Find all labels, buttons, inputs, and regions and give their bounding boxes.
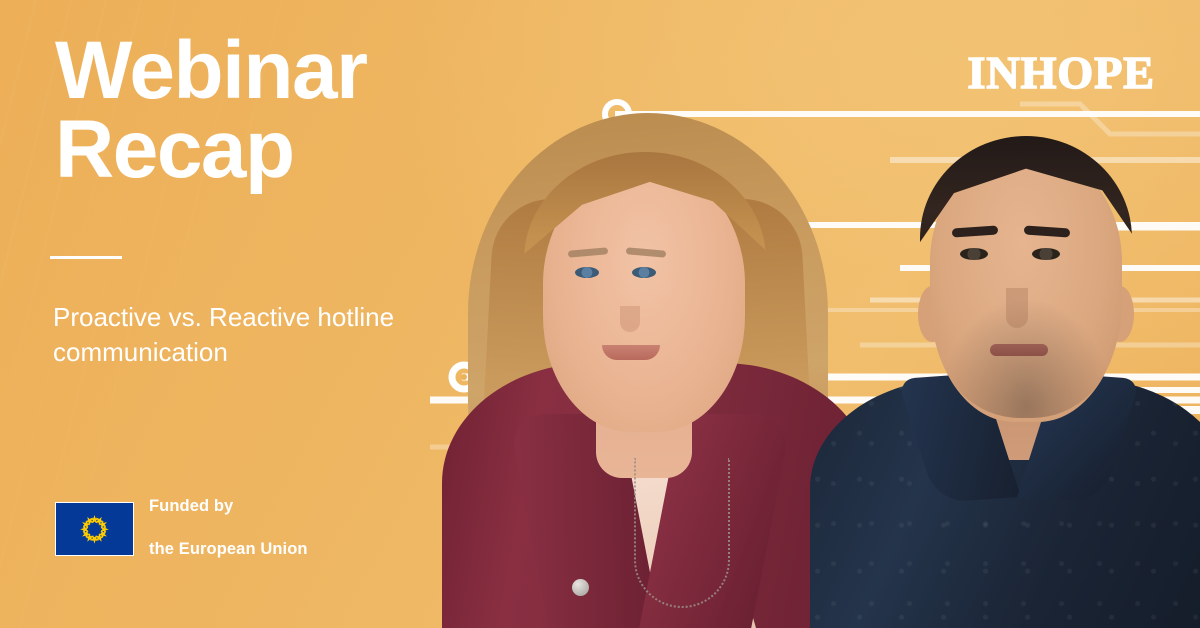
title-line-2: Recap <box>55 111 367 190</box>
eye-right <box>632 267 656 278</box>
eye-left <box>575 267 599 278</box>
mouth <box>990 344 1048 356</box>
necklace-chain <box>634 458 730 608</box>
title-divider-rule <box>50 256 122 259</box>
mouth <box>602 345 660 360</box>
eu-flag-icon <box>55 502 134 556</box>
inhope-logo: INHOPE <box>968 46 1155 99</box>
title-line-1: Webinar <box>55 25 367 116</box>
eye-right <box>1032 248 1060 260</box>
eu-funding-badge: Funded by the European Union <box>55 474 308 583</box>
page-title: Webinar Recap <box>55 32 367 189</box>
eu-funding-line-1: Funded by <box>149 496 308 518</box>
eu-funding-line-2: the European Union <box>149 539 308 561</box>
eye-left <box>960 248 988 260</box>
jacket-stud <box>572 579 589 596</box>
nose <box>620 306 640 332</box>
nose <box>1006 288 1028 328</box>
eu-funding-text: Funded by the European Union <box>149 474 308 583</box>
speaker-portrait-right <box>820 83 1200 628</box>
page-subtitle: Proactive vs. Reactive hotline communica… <box>53 300 413 371</box>
webinar-recap-banner: Webinar Recap Proactive vs. Reactive hot… <box>0 0 1200 628</box>
